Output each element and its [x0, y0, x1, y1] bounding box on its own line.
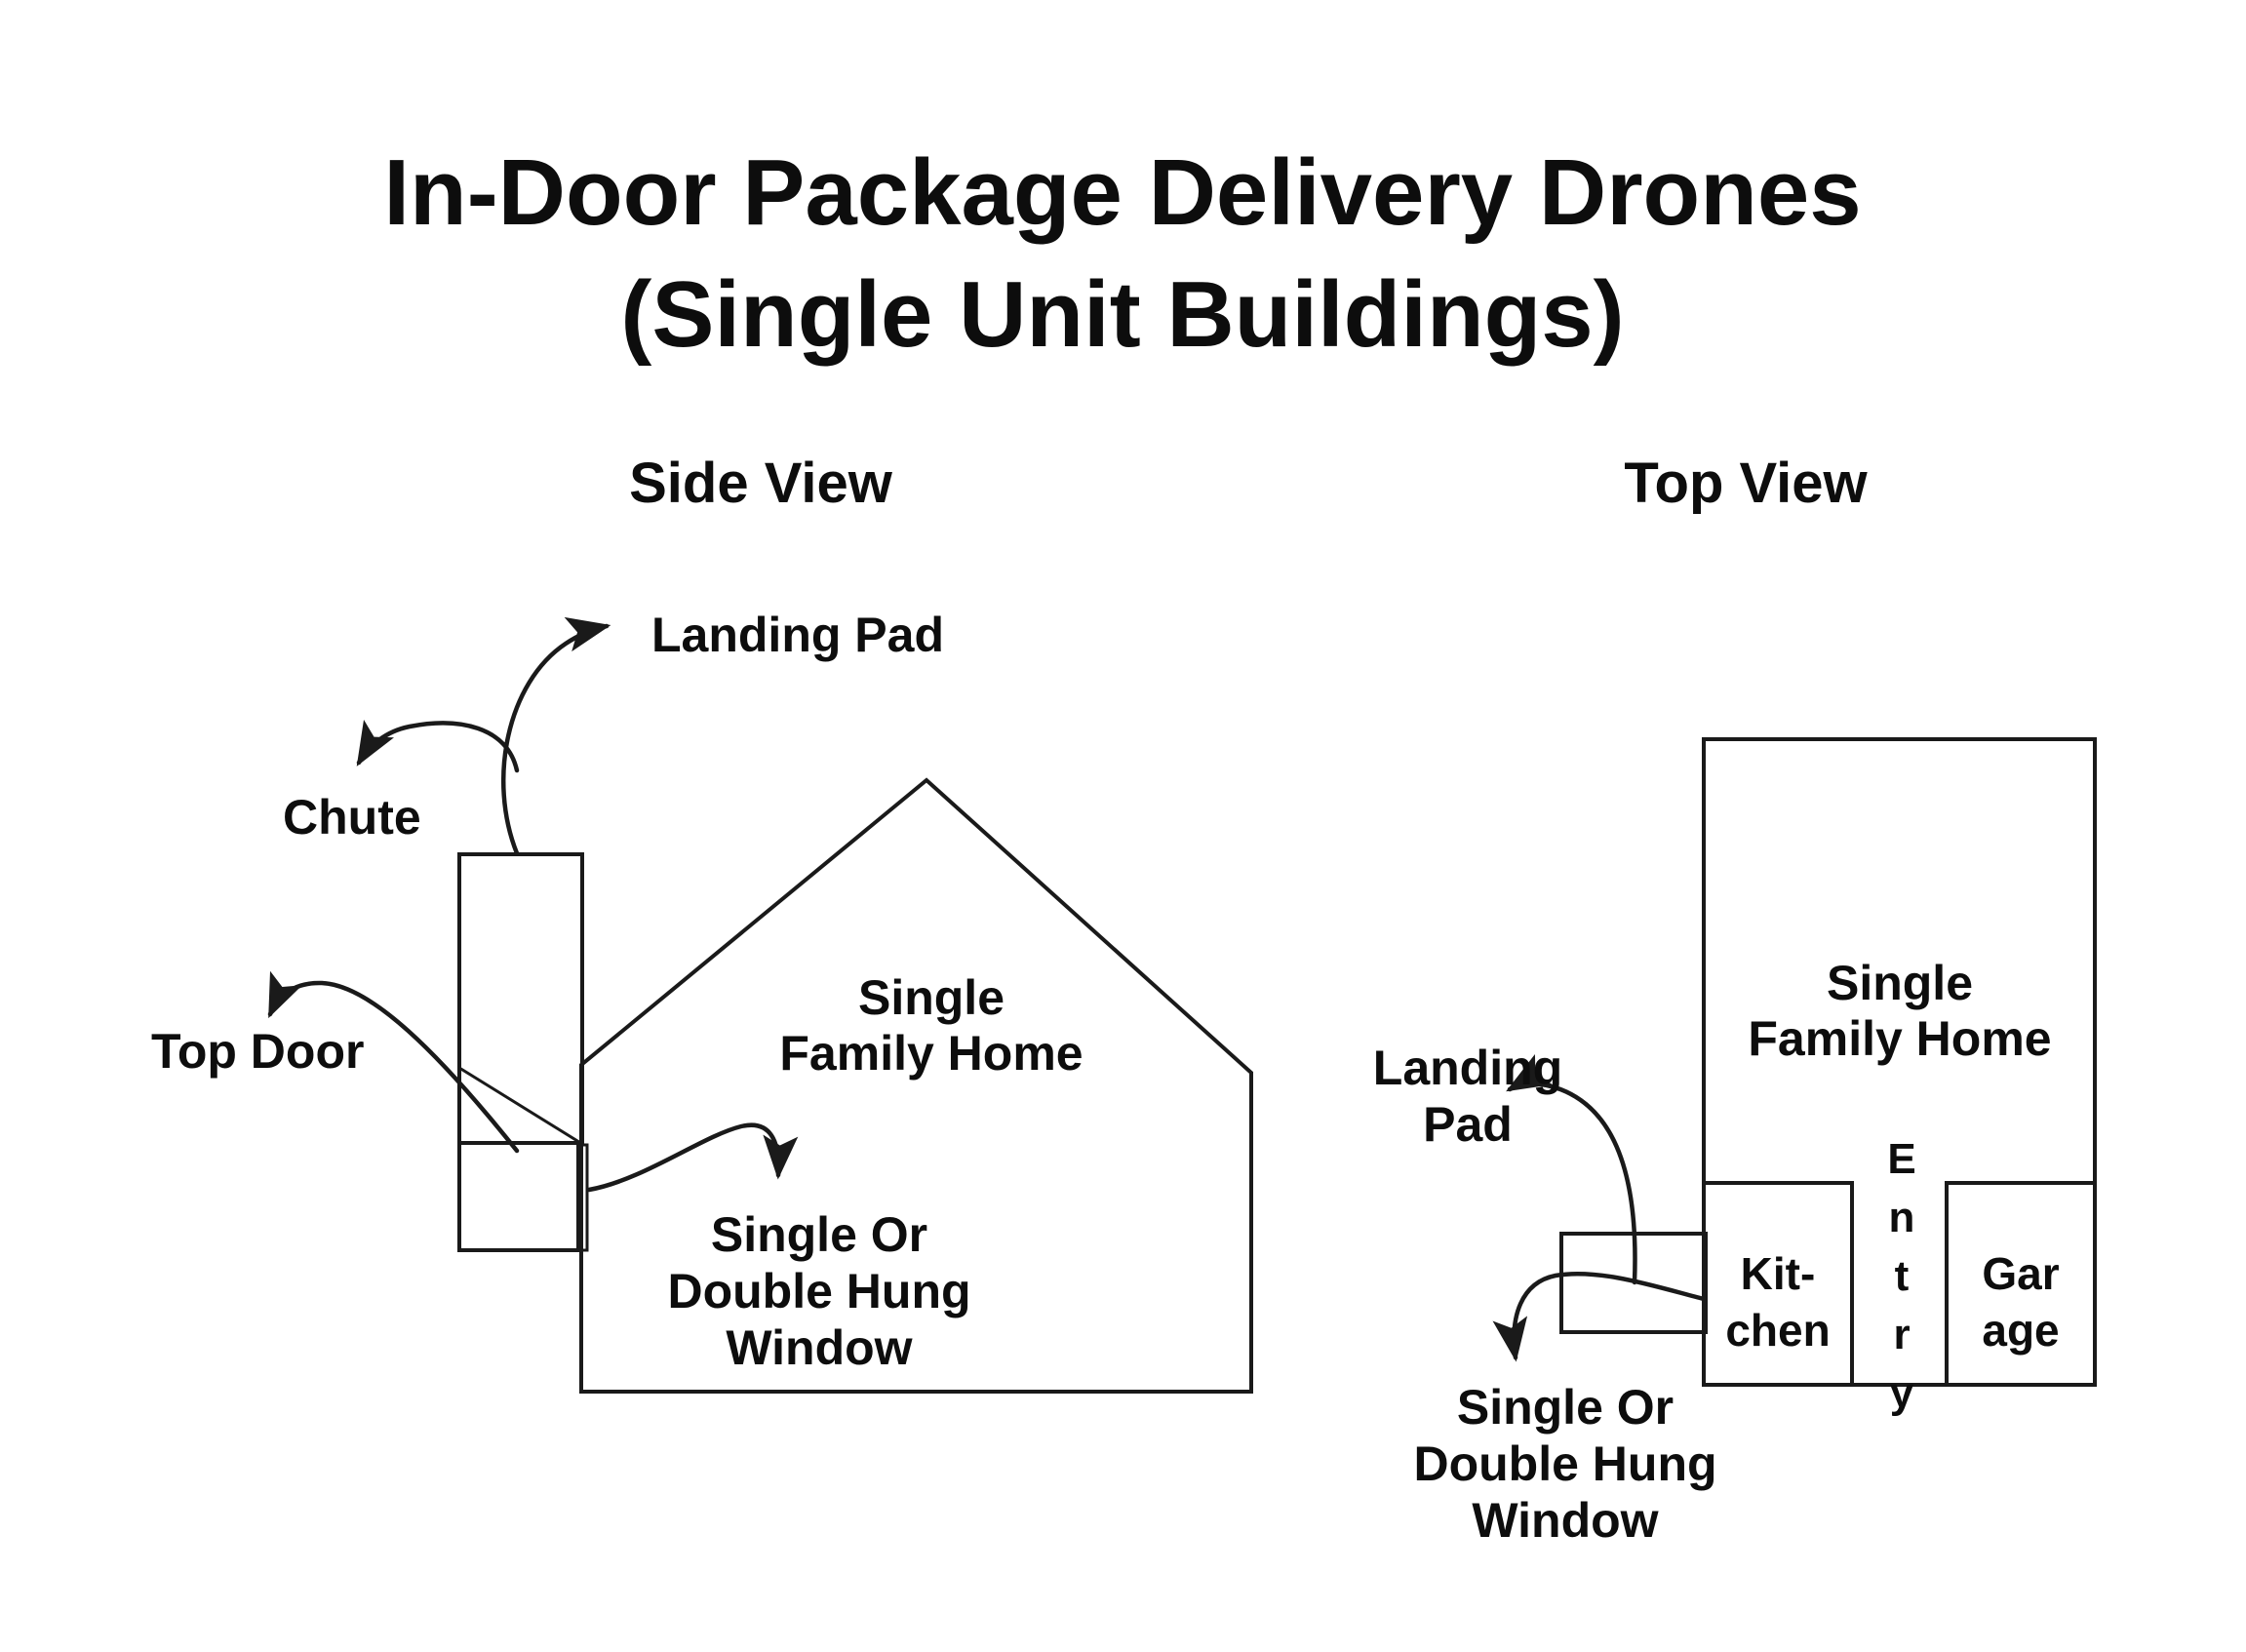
side-view-landing-pad-leader	[503, 626, 607, 853]
side-view-landing-pad-label: Landing Pad	[651, 608, 944, 662]
side-view-home-label-line2: Family Home	[779, 1026, 1083, 1081]
top-view-entry-letter-3: r	[1893, 1311, 1910, 1358]
side-view-window-label-line2: Double Hung	[667, 1264, 970, 1318]
top-view-entry-letter-0: E	[1887, 1135, 1915, 1183]
top-view-entry-letter-4: y	[1890, 1369, 1914, 1417]
top-view-kitchen-label-line2: chen	[1725, 1305, 1830, 1356]
side-view-window-rect	[459, 1143, 578, 1250]
side-view-group: Landing Pad Chute Top Door Single Family…	[151, 608, 1251, 1392]
diagram-svg: In-Door Package Delivery Drones (Single …	[0, 0, 2246, 1652]
side-view-chute-leader	[359, 723, 517, 770]
top-view-entry-letter-2: t	[1895, 1252, 1910, 1300]
side-view-heading: Side View	[629, 452, 893, 515]
top-view-heading: Top View	[1624, 452, 1868, 515]
top-view-window-label-line1: Single Or	[1457, 1380, 1674, 1435]
top-view-garage-label-line1: Gar	[1982, 1248, 2059, 1299]
side-view-chute-label: Chute	[283, 790, 421, 845]
top-view-landing-pad-label-line1: Landing	[1373, 1041, 1562, 1095]
top-view-landing-pad-label-line2: Pad	[1423, 1097, 1513, 1152]
top-view-kitchen-label-line1: Kit-	[1741, 1248, 1816, 1299]
top-view-group: Single Family Home Landing Pad Single Or…	[1373, 739, 2095, 1548]
slide-canvas: In-Door Package Delivery Drones (Single …	[0, 0, 2246, 1652]
side-view-window-label-line1: Single Or	[711, 1207, 927, 1262]
top-view-window-leader	[1515, 1274, 1704, 1357]
slide-title-line2: (Single Unit Buildings)	[620, 262, 1624, 367]
side-view-home-label-line1: Single	[858, 970, 1005, 1025]
slide-title-line1: In-Door Package Delivery Drones	[383, 140, 1861, 245]
side-view-chute-rect	[459, 854, 582, 1143]
top-view-home-label-line1: Single	[1827, 956, 1973, 1010]
side-view-window-leader	[589, 1125, 778, 1190]
top-view-window-label-line3: Window	[1472, 1493, 1658, 1548]
top-view-garage-label-line2: age	[1982, 1305, 2059, 1356]
top-view-home-label-line2: Family Home	[1748, 1011, 2051, 1066]
side-view-window-label-line3: Window	[726, 1320, 912, 1375]
side-view-top-door-label: Top Door	[151, 1024, 364, 1079]
top-view-landing-pad-leader	[1510, 1083, 1635, 1282]
top-view-entry-letter-1: n	[1889, 1194, 1915, 1241]
top-view-window-label-line2: Double Hung	[1413, 1436, 1716, 1491]
